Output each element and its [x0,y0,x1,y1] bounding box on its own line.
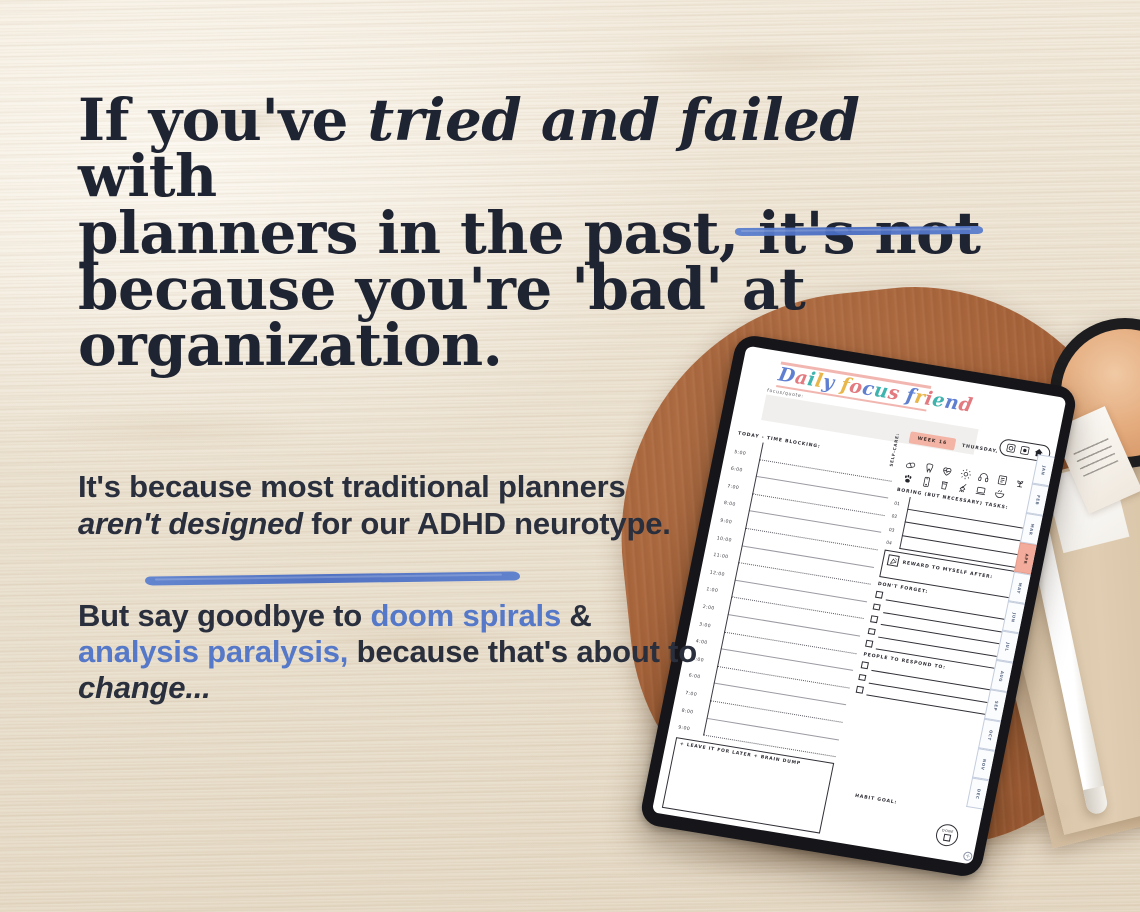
month-tab-label: MAR [1028,523,1035,536]
paragraph-one: It's because most traditional planners a… [78,469,698,542]
promo-image: Daily focus friend focus/quote: WEEK 16 … [0,0,1140,912]
paragraph-one-emphasis: aren't designed [78,506,303,541]
marketing-copy: If you've tried and failed with planners… [78,92,1008,707]
paragraph-two: But say goodbye to doom spirals & analys… [78,598,698,707]
month-tab-label: APR [1022,553,1029,565]
month-tab-label: DEC [974,788,981,799]
month-tab-dec[interactable]: DEC [966,777,989,809]
plant-icon[interactable] [1014,477,1027,490]
paragraph-two-blue1: doom spirals [370,598,561,633]
done-stamp[interactable]: DONE [934,823,960,848]
headline-line1-emphasis: tried and failed [367,86,859,154]
paragraph-two-emphasis: change... [78,670,211,705]
paragraph-one-part1: It's because most traditional planners [78,469,626,504]
paragraph-one-part2: for our ADHD neurotype. [303,506,671,541]
done-checkbox[interactable] [942,834,950,842]
time-label: 9:00 [677,725,704,735]
month-tab-label: MAY [1016,582,1023,594]
month-tab-oct[interactable]: OCT [978,719,1001,751]
month-tab-label: NOV [980,758,987,770]
month-tab-label: JUN [1010,612,1017,623]
month-tab-label: OCT [986,729,993,740]
paragraph-two-part2: & [561,598,592,633]
headline-line4: organization. [78,311,502,379]
sticker-icon[interactable] [1020,445,1031,455]
habit-goal-heading: HABIT GOAL: [854,794,897,806]
month-tab-label: JAN [1040,465,1047,475]
month-tab-label: FEB [1034,494,1041,505]
paragraph-two-blue2: analysis paralysis, [78,634,348,669]
paragraph-two-part3: because that's about to [348,634,697,669]
add-page-button[interactable]: + [962,851,973,861]
paragraph-two-part1: But say goodbye to [78,598,370,633]
month-tab-nov[interactable]: NOV [972,748,995,780]
